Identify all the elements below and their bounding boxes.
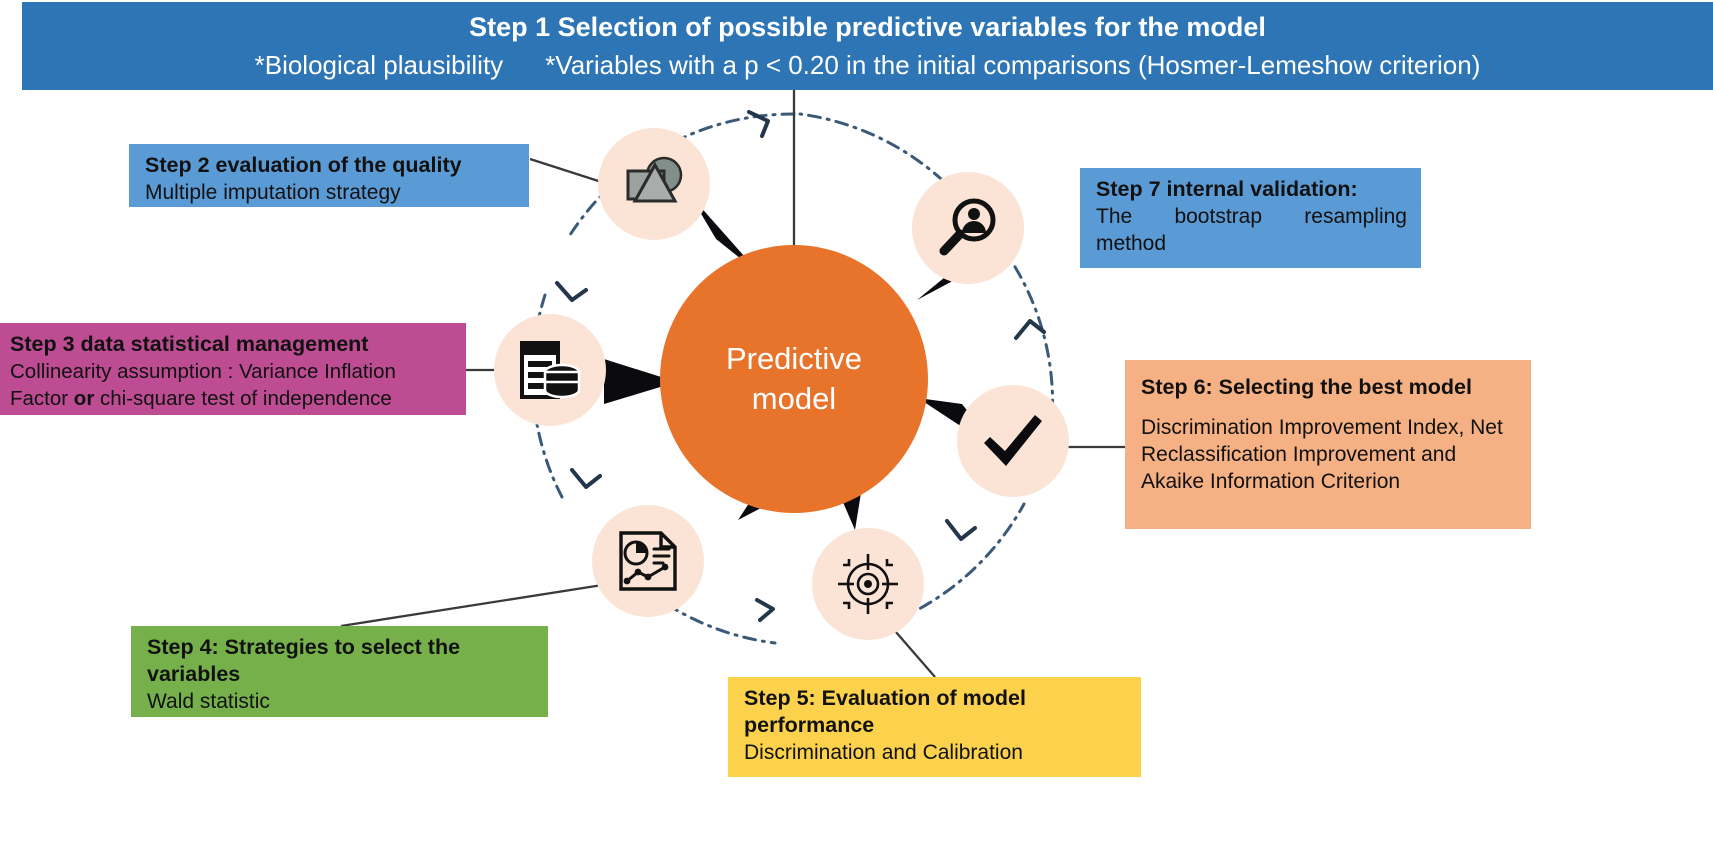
- step3-body-line2-post: chi-square test of independence: [94, 387, 391, 410]
- step3-body-line2: Factor or chi-square test of independenc…: [10, 385, 452, 412]
- step7-body: The bootstrap resampling method: [1096, 203, 1407, 257]
- document-database-icon: [517, 338, 583, 402]
- magnifier-person-icon: [937, 197, 999, 259]
- step3-body-line1: Collinearity assumption : Variance Infla…: [10, 358, 452, 385]
- step-box-step2: Step 2 evaluation of the quality Multipl…: [129, 144, 529, 207]
- central-node-label: Predictive model: [726, 339, 862, 419]
- step3-body-line2-bold: or: [74, 387, 95, 410]
- cycle-arrow-upper-right: [1016, 321, 1044, 338]
- icon-disc-step6: [957, 385, 1069, 497]
- image-shapes-icon: [622, 155, 686, 213]
- cycle-arrow-bottom: [757, 600, 773, 620]
- step6-body: Discrimination Improvement Index, Net Re…: [1141, 414, 1517, 495]
- analytics-report-icon: [617, 529, 679, 593]
- step6-body-line3: Akaike Information Criterion: [1141, 468, 1517, 495]
- step6-title: Step 6: Selecting the best model: [1141, 374, 1517, 401]
- target-crosshair-icon: [837, 553, 899, 615]
- checkmark-icon: [980, 412, 1046, 470]
- step4-title: Step 4: Strategies to select the variabl…: [147, 634, 534, 688]
- icon-disc-step7: [912, 172, 1024, 284]
- step2-body: Multiple imputation strategy: [145, 179, 515, 206]
- step5-title: Step 5: Evaluation of model performance: [744, 685, 1127, 739]
- step5-body: Discrimination and Calibration: [744, 739, 1127, 766]
- icon-disc-step5: [812, 528, 924, 640]
- step3-title: Step 3 data statistical management: [10, 331, 452, 358]
- step-box-step6: Step 6: Selecting the best model Discrim…: [1125, 360, 1531, 529]
- central-node-predictive-model: Predictive model: [660, 245, 928, 513]
- cycle-arrow-upper-left: [557, 283, 586, 300]
- step6-body-line1: Discrimination Improvement Index, Net: [1141, 414, 1517, 441]
- header-subtitle-a: *Biological plausibility: [255, 50, 504, 80]
- cycle-arrow-lower-right: [947, 521, 975, 539]
- step3-body-line2-pre: Factor: [10, 387, 74, 410]
- icon-disc-step3: [494, 314, 606, 426]
- connector-step4: [341, 583, 615, 626]
- cycle-arrow-lower-left: [572, 470, 600, 487]
- step6-body-line2: Reclassification Improvement and: [1141, 441, 1517, 468]
- step4-body: Wald statistic: [147, 688, 534, 715]
- cycle-arrow-top: [749, 112, 768, 136]
- icon-disc-step4: [592, 505, 704, 617]
- header-subtitle: *Biological plausibility*Variables with …: [32, 46, 1703, 84]
- step2-title: Step 2 evaluation of the quality: [145, 152, 515, 179]
- header-subtitle-b: *Variables with a p < 0.20 in the initia…: [545, 50, 1480, 80]
- step-box-step7: Step 7 internal validation: The bootstra…: [1080, 168, 1421, 268]
- page-title: Step 1 Selection of possible predictive …: [32, 8, 1703, 46]
- step-box-step3: Step 3 data statistical management Colli…: [0, 323, 466, 415]
- step-box-step5: Step 5: Evaluation of model performance …: [728, 677, 1141, 777]
- header-banner: Step 1 Selection of possible predictive …: [22, 2, 1713, 90]
- step-box-step4: Step 4: Strategies to select the variabl…: [131, 626, 548, 717]
- step7-title: Step 7 internal validation:: [1096, 176, 1407, 203]
- icon-disc-step2: [598, 128, 710, 240]
